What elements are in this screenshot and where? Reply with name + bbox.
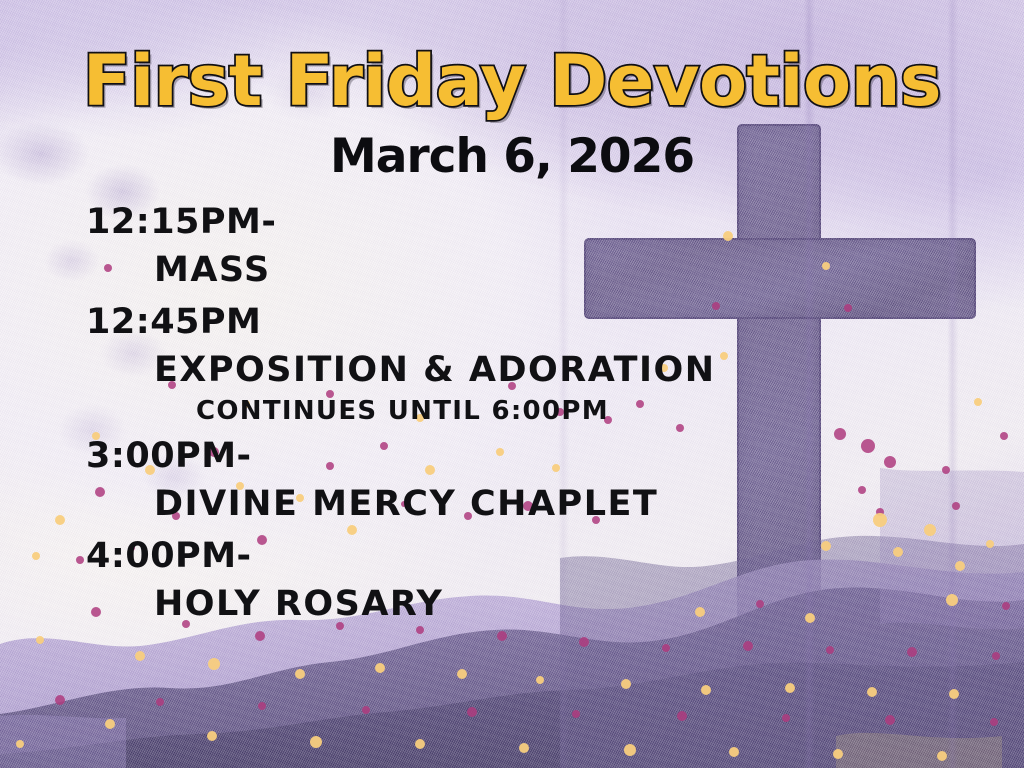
poster-content: First Friday Devotions March 6, 2026 12:… bbox=[0, 0, 1024, 768]
poster-canvas: First Friday Devotions March 6, 2026 12:… bbox=[0, 0, 1024, 768]
event-date: March 6, 2026 bbox=[0, 133, 1024, 180]
schedule-event-line: DIVINE MERCY CHAPLET bbox=[154, 480, 726, 528]
schedule-time-line: 3:00PM- bbox=[86, 432, 726, 480]
page-title: First Friday Devotions bbox=[0, 46, 1024, 116]
schedule-event-line: HOLY ROSARY bbox=[154, 580, 726, 628]
schedule-list: 12:15PM-MASS12:45PMEXPOSITION & ADORATIO… bbox=[86, 198, 726, 628]
schedule-note-line: CONTINUES UNTIL 6:00PM bbox=[196, 394, 726, 428]
schedule-time-line: 12:15PM- bbox=[86, 198, 726, 246]
schedule-event-line: MASS bbox=[154, 246, 726, 294]
schedule-time-line: 4:00PM- bbox=[86, 532, 726, 580]
schedule-time-line: 12:45PM bbox=[86, 298, 726, 346]
schedule-event-line: EXPOSITION & ADORATION bbox=[154, 346, 726, 394]
